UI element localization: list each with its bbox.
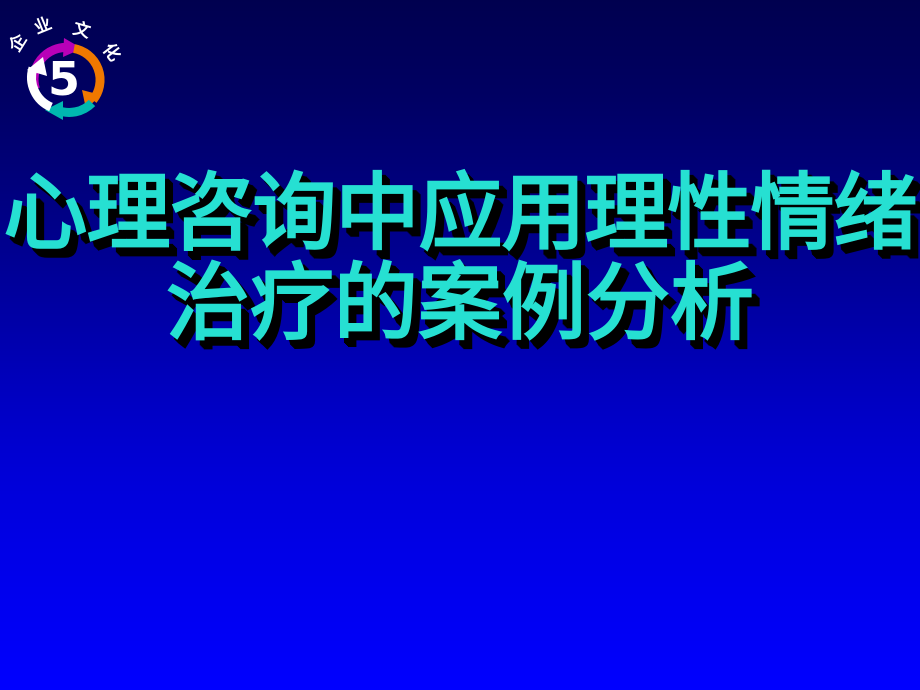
ring-character-wen: 文 xyxy=(71,18,94,43)
ring-character-hua: 化 xyxy=(98,39,125,65)
title-line-2: 治疗的案例分析 xyxy=(0,260,920,346)
corporate-culture-logo[interactable]: 企 业 文 化 xyxy=(2,4,142,136)
title-line-1: 心理咨询中应用理性情绪 xyxy=(0,170,920,256)
ring-character-ye: 业 xyxy=(31,14,54,39)
slide-canvas: 企 业 文 化 xyxy=(0,0,920,690)
ring-character-qi: 企 xyxy=(4,29,32,56)
logo-center-number: 5 xyxy=(48,52,80,106)
slide-title: 心理咨询中应用理性情绪 治疗的案例分析 xyxy=(0,170,920,345)
